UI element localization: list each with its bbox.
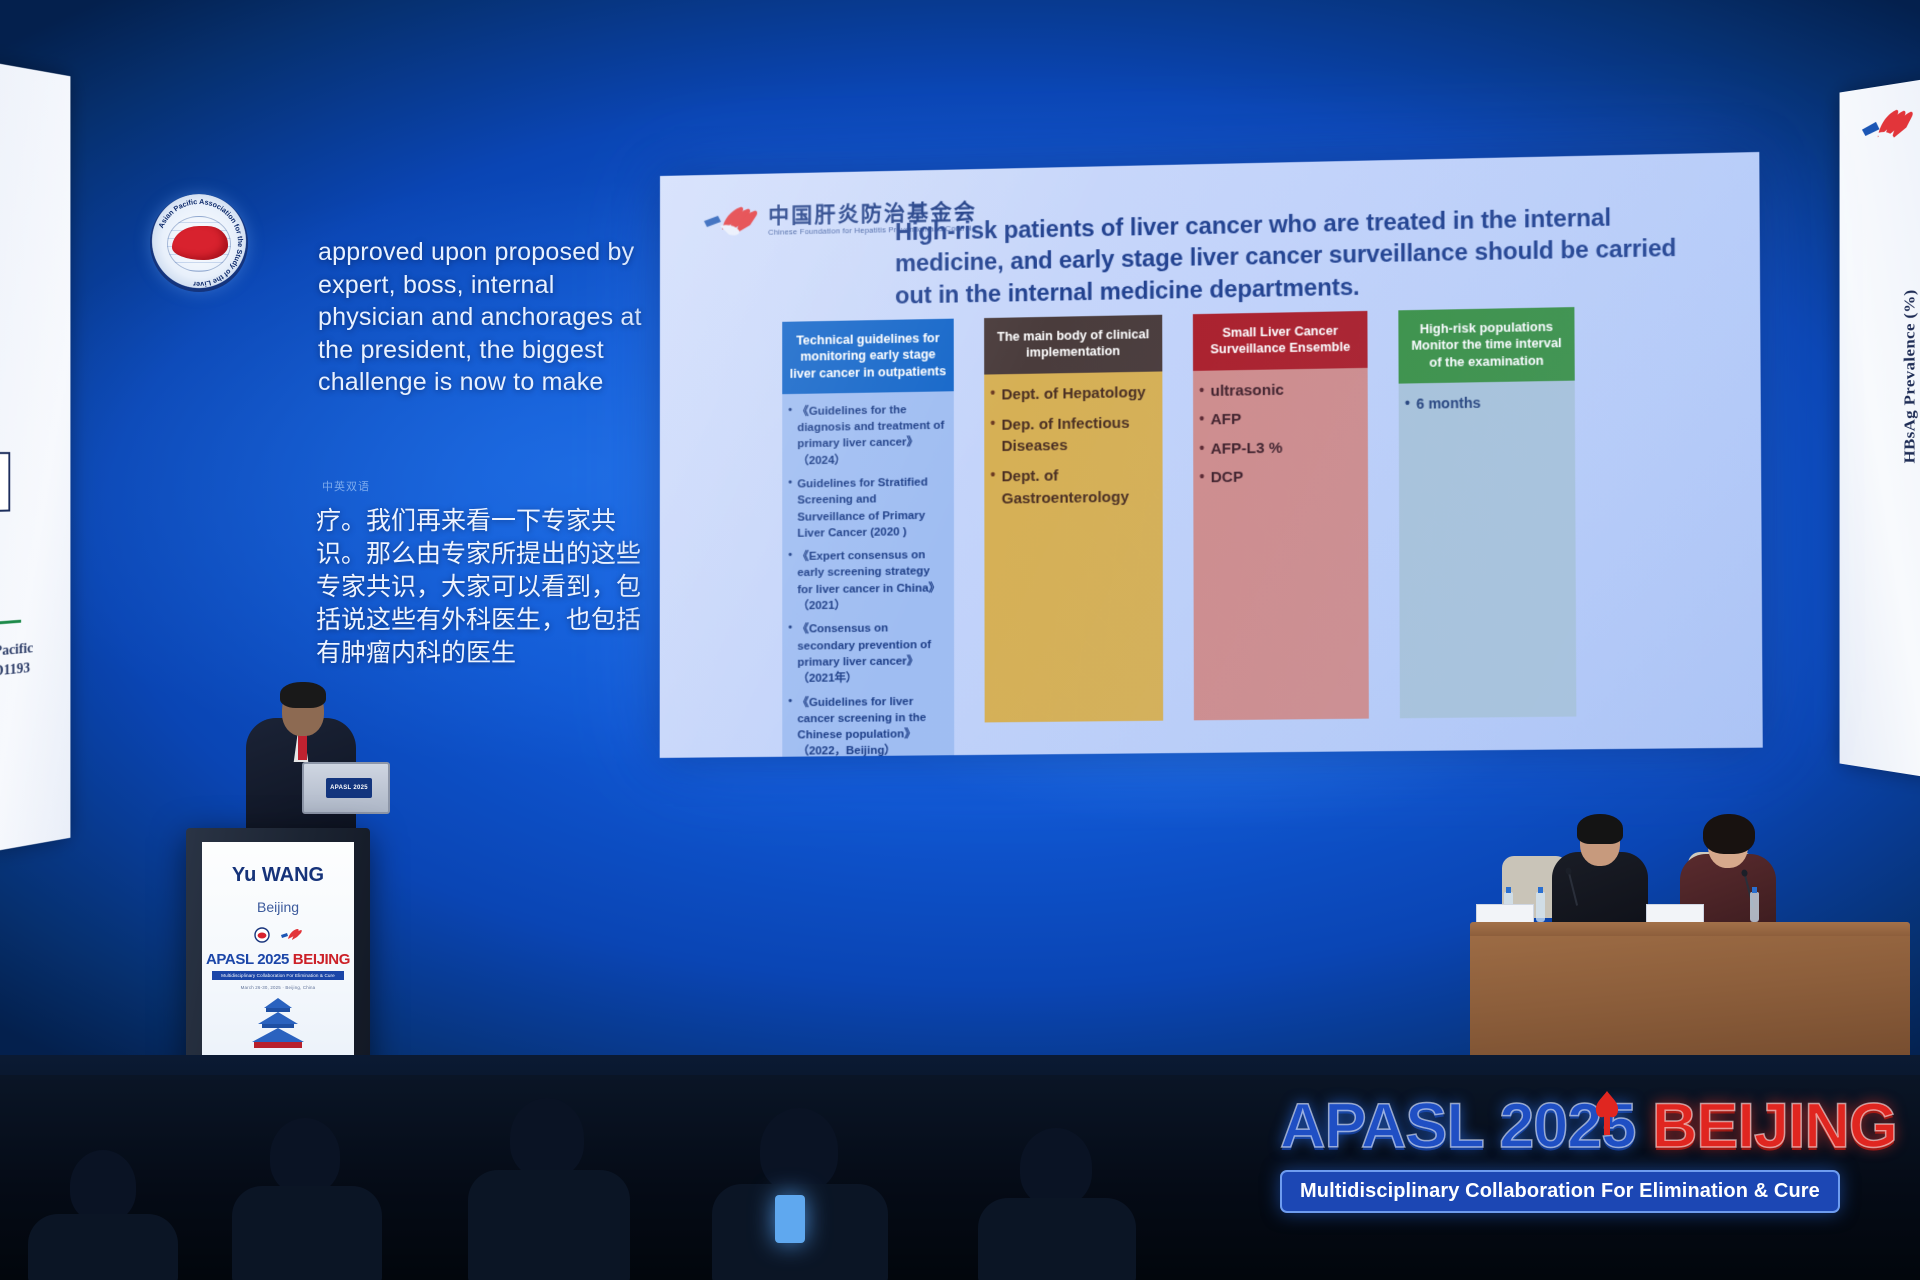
banner-title-red: BEIJING [1652, 1091, 1897, 1161]
speaker-city: Beijing [202, 899, 354, 915]
list-item: ultrasonic [1199, 378, 1359, 404]
banner-subtitle: Multidisciplinary Collaboration For Elim… [1280, 1170, 1840, 1213]
panel-table-area [1480, 800, 1900, 1090]
audience-head [1020, 1128, 1092, 1206]
podium-subline: March 26-30, 2025 · Beijing, China [202, 985, 354, 990]
column-header: Small Liver Cancer Surveillance Ensemble [1193, 311, 1368, 370]
podium-logo-red: BEIJING [293, 951, 350, 968]
beijing-torch-icon [1585, 1089, 1629, 1143]
side-left-line2: D1193 [0, 658, 33, 682]
slide-heading: High-risk patients of liver cancer who a… [895, 200, 1717, 311]
speaker-name: Yu WANG [202, 864, 354, 887]
water-bottle [1536, 892, 1545, 922]
list-item: 《Expert consensus on early screening str… [788, 547, 946, 615]
speaker-tie [298, 732, 307, 760]
podium-area: APASL 2025 Yu WANG Beijing [210, 700, 460, 1100]
podium-marks [202, 927, 354, 943]
audience-head [760, 1108, 838, 1192]
apasl-banner: APASL 2025 BEIJING Multidisciplinary Col… [1280, 1095, 1900, 1265]
side-left-box [0, 452, 10, 513]
column-technical-guidelines: Technical guidelines for monitoring earl… [782, 319, 954, 725]
column-body: 6 months [1399, 380, 1577, 718]
column-monitoring-interval: High-risk populations Monitor the time i… [1398, 307, 1576, 718]
apasl-emblem-icon: Asian Pacific Association for the Study … [150, 194, 248, 292]
podium-event-logo: APASL 2025 BEIJING [202, 951, 354, 968]
temple-of-heaven-icon [246, 996, 310, 1050]
hepatitis-foundation-hand-icon [280, 928, 302, 942]
panelist-hair [1577, 814, 1623, 844]
column-body: Dept. of Hepatology Dep. of Infectious D… [984, 371, 1163, 723]
panelist-hair [1703, 814, 1755, 854]
list-item: Dept. of Gastroenterology [990, 464, 1154, 510]
list-item: 6 months [1405, 391, 1567, 414]
svg-text:Asian Pacific Association for: Asian Pacific Association for the Study … [156, 197, 245, 289]
caption-english: approved upon proposed by expert, boss, … [318, 236, 658, 399]
stage-scene: Pacific D1193 HBsAg Prevalence (%) Asian… [0, 0, 1920, 1280]
column-body: ultrasonic AFP AFP-L3 % DCP [1193, 367, 1369, 720]
list-item: AFP [1199, 407, 1359, 432]
list-item: AFP-L3 % [1199, 436, 1359, 461]
emblem-ring-text: Asian Pacific Association for the Study … [150, 194, 248, 292]
column-body: 《Guidelines for the diagnosis and treatm… [782, 391, 954, 758]
audience-shoulders [468, 1170, 630, 1280]
column-header: The main body of clinical implementation [984, 315, 1162, 374]
panelist-nameplate [1476, 904, 1534, 924]
panelist-nameplate [1646, 904, 1704, 924]
column-header: Technical guidelines for monitoring earl… [782, 319, 954, 394]
hepatitis-foundation-hand-icon [1857, 102, 1916, 153]
podium-logo-blue: APASL 2025 [206, 951, 289, 968]
laptop: APASL 2025 [302, 762, 390, 814]
list-item: 《Consensus on secondary prevention of pr… [788, 620, 946, 688]
audience-head [510, 1098, 584, 1178]
water-bottle [1750, 892, 1759, 922]
list-item: 《Guidelines for the diagnosis and treatm… [788, 401, 946, 469]
apasl-emblem-icon [254, 927, 270, 943]
side-screen-right: HBsAg Prevalence (%) [1840, 78, 1920, 778]
audience-phone-screen [775, 1195, 805, 1243]
audience-shoulders [28, 1214, 178, 1280]
side-screen-left: Pacific D1193 [0, 62, 70, 852]
hepatitis-foundation-hand-icon [702, 204, 764, 239]
audience-shoulders [978, 1198, 1136, 1280]
caption-tag: 中英双语 [322, 478, 370, 494]
podium-tagline: Multidisciplinary Collaboration For Elim… [212, 971, 344, 980]
list-item: 《Guidelines for liver cancer screening i… [788, 693, 946, 758]
banner-title-blue: APASL 2025 [1280, 1091, 1635, 1161]
audience-shoulders [232, 1186, 382, 1280]
podium-sign: Yu WANG Beijing APASL 2025 BEIJING [202, 842, 354, 1078]
speaker-hair [280, 682, 326, 708]
list-item: DCP [1199, 465, 1359, 490]
projected-slide: 中国肝炎防治基金会 Chinese Foundation for Hepatit… [660, 152, 1763, 758]
caption-chinese: 疗。我们再来看一下专家共识。那么由专家所提出的这些专家共识，大家可以看到，包括说… [316, 505, 646, 670]
side-left-rule [0, 620, 21, 627]
list-item: Guidelines for Stratified Screening and … [788, 474, 946, 542]
slide-columns: Technical guidelines for monitoring earl… [782, 304, 1749, 725]
column-surveillance-ensemble: Small Liver Cancer Surveillance Ensemble… [1193, 311, 1369, 720]
side-left-text: Pacific D1193 [0, 638, 33, 682]
audience-head [270, 1118, 340, 1194]
column-clinical-implementation: The main body of clinical implementation… [984, 315, 1163, 723]
list-item: Dep. of Infectious Diseases [990, 412, 1154, 458]
hbsag-axis-label: HBsAg Prevalence (%) [1901, 289, 1919, 464]
list-item: Dept. of Hepatology [990, 381, 1154, 405]
column-header: High-risk populations Monitor the time i… [1398, 307, 1574, 383]
audience-head [70, 1150, 136, 1222]
laptop-badge: APASL 2025 [326, 778, 372, 798]
